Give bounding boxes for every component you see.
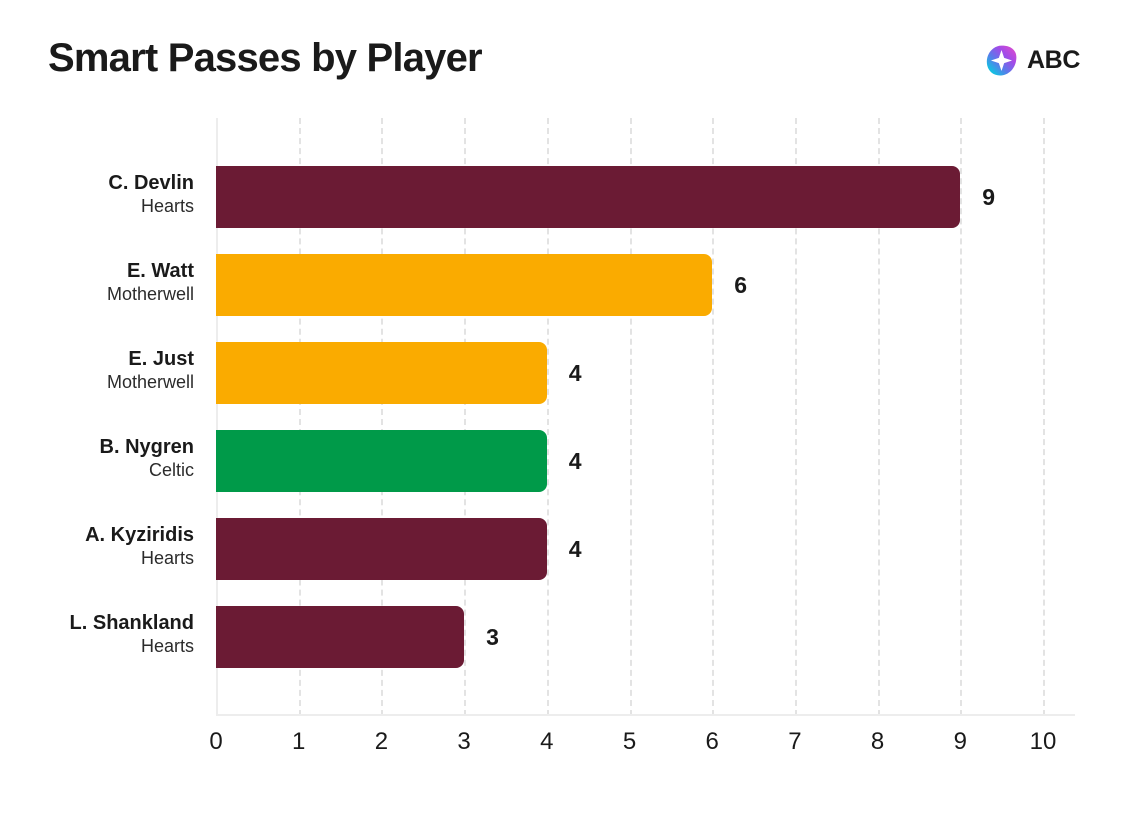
category-label: E. WattMotherwell bbox=[0, 260, 194, 305]
bar-value-label: 4 bbox=[569, 342, 582, 404]
bar[interactable] bbox=[216, 166, 960, 228]
category-team-name: Hearts bbox=[0, 548, 194, 569]
x-tick-label: 8 bbox=[871, 728, 884, 756]
bar-row: 4 bbox=[216, 518, 1075, 580]
category-label: E. JustMotherwell bbox=[0, 348, 194, 393]
category-player-name: C. Devlin bbox=[0, 172, 194, 196]
bar-row: 4 bbox=[216, 342, 1075, 404]
x-tick-label: 9 bbox=[954, 728, 967, 756]
x-tick-label: 2 bbox=[375, 728, 388, 756]
bar-value-label: 6 bbox=[734, 254, 747, 316]
brand-name: ABC bbox=[1027, 48, 1080, 73]
category-player-name: E. Just bbox=[0, 348, 194, 372]
bar[interactable] bbox=[216, 518, 547, 580]
page-title: Smart Passes by Player bbox=[48, 36, 482, 81]
bar-value-label: 4 bbox=[569, 518, 582, 580]
category-team-name: Hearts bbox=[0, 196, 194, 217]
category-player-name: B. Nygren bbox=[0, 436, 194, 460]
category-label: L. ShanklandHearts bbox=[0, 612, 194, 657]
bar[interactable] bbox=[216, 430, 547, 492]
x-tick-label: 1 bbox=[292, 728, 305, 756]
bar-value-label: 3 bbox=[486, 606, 499, 668]
x-tick-label: 7 bbox=[788, 728, 801, 756]
category-player-name: L. Shankland bbox=[0, 612, 194, 636]
x-tick-label: 5 bbox=[623, 728, 636, 756]
chart-canvas: Smart Passes by Player ABC 964443 C. Dev… bbox=[0, 0, 1124, 814]
bar-row: 9 bbox=[216, 166, 1075, 228]
bar[interactable] bbox=[216, 342, 547, 404]
bar-row: 3 bbox=[216, 606, 1075, 668]
bar[interactable] bbox=[216, 606, 464, 668]
bar-row: 6 bbox=[216, 254, 1075, 316]
category-player-name: A. Kyziridis bbox=[0, 524, 194, 548]
plot-area: 964443 bbox=[216, 118, 1075, 716]
category-team-name: Motherwell bbox=[0, 284, 194, 305]
bar-value-label: 9 bbox=[982, 166, 995, 228]
category-player-name: E. Watt bbox=[0, 260, 194, 284]
category-label: A. KyziridisHearts bbox=[0, 524, 194, 569]
x-tick-label: 10 bbox=[1030, 728, 1057, 756]
x-tick-label: 0 bbox=[209, 728, 222, 756]
category-team-name: Hearts bbox=[0, 636, 194, 657]
bar-row: 4 bbox=[216, 430, 1075, 492]
category-team-name: Motherwell bbox=[0, 372, 194, 393]
brand-logo: ABC bbox=[985, 44, 1080, 77]
bar-value-label: 4 bbox=[569, 430, 582, 492]
x-tick-label: 3 bbox=[457, 728, 470, 756]
x-tick-label: 4 bbox=[540, 728, 553, 756]
bar[interactable] bbox=[216, 254, 712, 316]
category-label: C. DevlinHearts bbox=[0, 172, 194, 217]
category-label: B. NygrenCeltic bbox=[0, 436, 194, 481]
category-team-name: Celtic bbox=[0, 460, 194, 481]
abc-logo-icon bbox=[985, 44, 1018, 77]
bar-series: 964443 bbox=[216, 118, 1075, 716]
x-tick-label: 6 bbox=[706, 728, 719, 756]
